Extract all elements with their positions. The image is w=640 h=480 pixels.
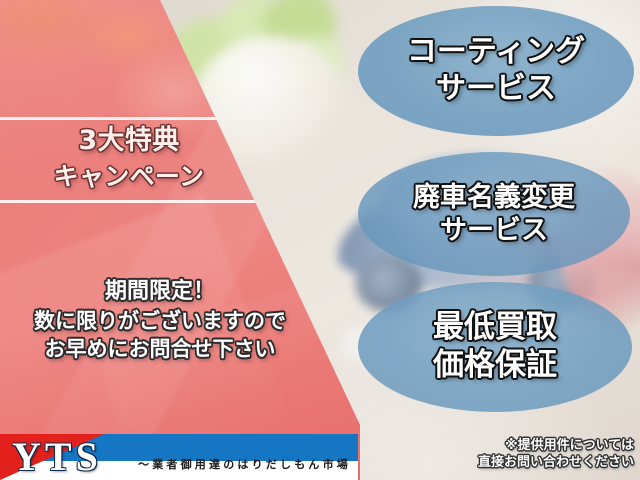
benefit-oval-lowest-price-guarantee: 最低買取 価格保証: [358, 282, 632, 412]
logo-tagline: 〜業者御用達のはりだしもん市場: [138, 456, 351, 472]
logo-wordmark: YTS: [12, 435, 102, 479]
benefit-3-line2: 価格保証: [433, 348, 557, 384]
notice-line1: 期間限定！: [0, 278, 320, 307]
benefit-1-line1: コーティング: [407, 35, 585, 70]
campaign-headline-line2: キャンペーン: [0, 162, 258, 193]
campaign-headline-line1: 3大特典: [0, 125, 258, 158]
benefit-2-line1: 廃車名義変更: [413, 182, 575, 213]
benefit-2-line2: サービス: [440, 215, 548, 246]
benefit-1-line2: サービス: [436, 72, 556, 107]
benefit-oval-scrap-car-title-transfer: 廃車名義変更 サービス: [358, 152, 630, 276]
campaign-headline: 3大特典 キャンペーン: [0, 125, 258, 192]
footnote-line1: ※提供用件については: [478, 437, 634, 455]
notice-line2: 数に限りがございますので: [0, 308, 320, 335]
footnote-disclaimer: ※提供用件については 直接お問い合わせください: [478, 437, 634, 472]
limited-time-notice: 期間限定！ 数に限りがございますので お早めにお問合せ下さい: [0, 278, 320, 363]
benefit-3-line1: 最低買取: [433, 310, 557, 346]
notice-line3: お早めにお問合せ下さい: [0, 336, 320, 363]
benefit-oval-coating-service: コーティング サービス: [358, 6, 634, 136]
promo-banner: 3大特典 キャンペーン 期間限定！ 数に限りがございますので お早めにお問合せ下…: [0, 0, 640, 480]
footnote-line2: 直接お問い合わせください: [478, 454, 634, 472]
company-logo-bar: YTS: [0, 430, 358, 480]
